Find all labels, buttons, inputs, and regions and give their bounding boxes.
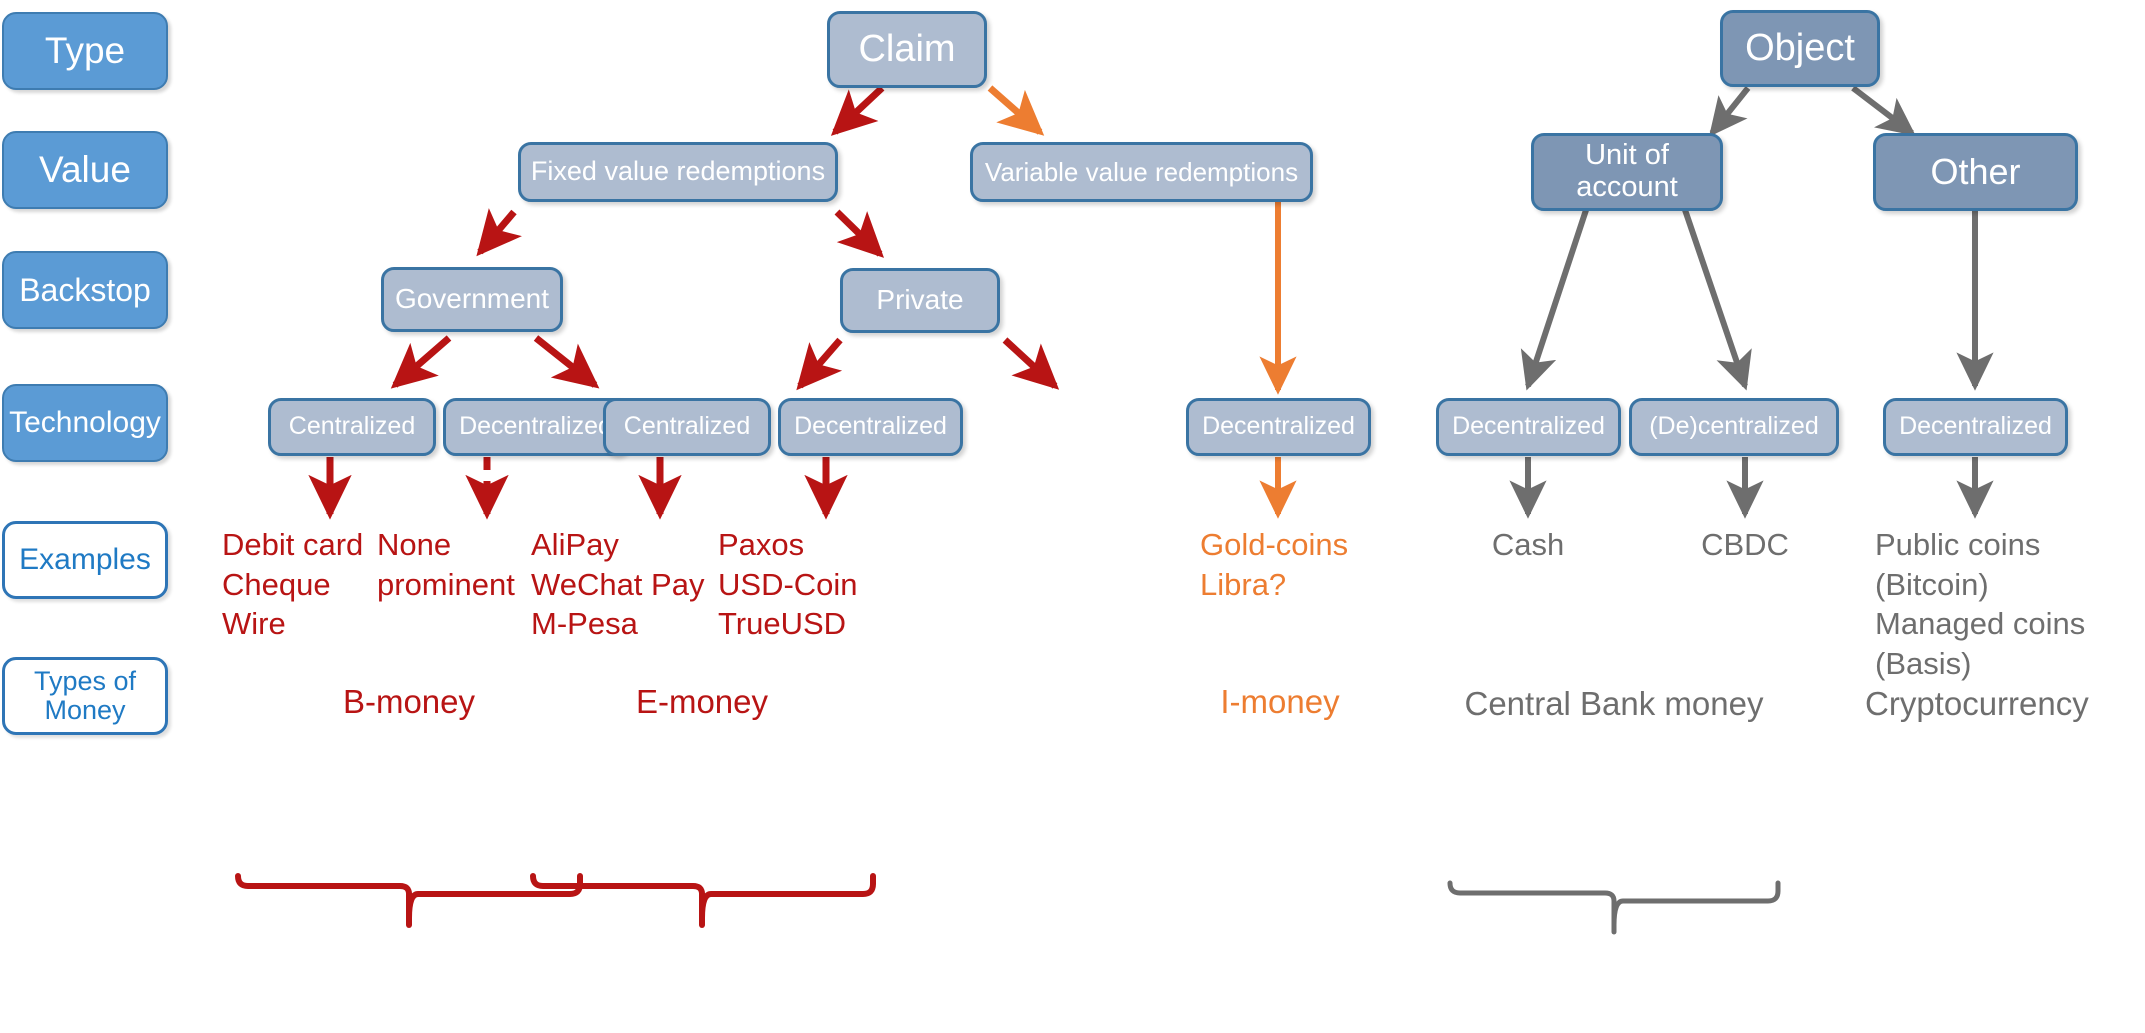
node-tech-uoa-decentralized2[interactable]: (De)centralized bbox=[1629, 398, 1839, 456]
dimension-label-technology: Technology bbox=[2, 384, 168, 462]
money-type-i-money: I-money bbox=[1160, 682, 1400, 722]
money-type-e-money: E-money bbox=[582, 682, 822, 722]
edge-object-to-unit-of-account bbox=[1712, 88, 1748, 133]
money-tree-diagram: Type Value Backstop Technology Examples … bbox=[0, 0, 2145, 1033]
money-type-central-bank-money: Central Bank money bbox=[1444, 684, 1784, 724]
dimension-label-type: Type bbox=[2, 12, 168, 90]
node-tech-uoa-decentralized[interactable]: Decentralized bbox=[1436, 398, 1621, 456]
edge-uoa-to-decentralized2 bbox=[1683, 204, 1745, 386]
examples-other-decentralized: Public coins (Bitcoin) Managed coins (Ba… bbox=[1875, 525, 2130, 684]
edge-government-to-centralized bbox=[395, 338, 449, 385]
node-object[interactable]: Object bbox=[1720, 10, 1880, 87]
edge-uoa-to-decentralized bbox=[1528, 204, 1588, 386]
examples-priv-centralized: AliPay WeChat Pay M-Pesa bbox=[531, 525, 746, 644]
brace-b-money bbox=[238, 876, 580, 918]
node-tech-priv-centralized[interactable]: Centralized bbox=[603, 398, 771, 456]
node-tech-gov-decentralized[interactable]: Decentralized bbox=[443, 398, 628, 456]
edge-claim-to-variable bbox=[990, 88, 1040, 132]
node-tech-gov-centralized[interactable]: Centralized bbox=[268, 398, 436, 456]
node-government[interactable]: Government bbox=[381, 267, 563, 332]
edge-fixed-to-private bbox=[837, 212, 880, 254]
edge-private-to-decentralized bbox=[1005, 340, 1055, 386]
dimension-label-types-of-money: Types of Money bbox=[2, 657, 168, 735]
dimension-label-backstop: Backstop bbox=[2, 251, 168, 329]
node-unit-of-account[interactable]: Unit of account bbox=[1531, 133, 1723, 211]
examples-priv-decentralized: Paxos USD-Coin TrueUSD bbox=[718, 525, 928, 644]
node-tech-priv-decentralized[interactable]: Decentralized bbox=[778, 398, 963, 456]
node-variable-value-redemptions[interactable]: Variable value redemptions bbox=[970, 142, 1313, 202]
brace-e-money bbox=[533, 876, 873, 918]
edge-private-to-centralized bbox=[800, 340, 840, 386]
edge-fixed-to-government bbox=[480, 212, 514, 252]
edge-government-to-decentralized bbox=[536, 338, 595, 385]
examples-variable-decentralized: Gold-coins Libra? bbox=[1200, 525, 1415, 604]
money-type-b-money: B-money bbox=[289, 682, 529, 722]
dimension-label-value: Value bbox=[2, 131, 168, 209]
edge-claim-to-fixed bbox=[835, 88, 882, 132]
node-other[interactable]: Other bbox=[1873, 133, 2078, 211]
examples-uoa-decentralized2: CBDC bbox=[1655, 525, 1835, 565]
node-claim[interactable]: Claim bbox=[827, 11, 987, 88]
edge-object-to-other bbox=[1853, 88, 1912, 133]
dimension-label-examples: Examples bbox=[2, 521, 168, 599]
node-tech-other-decentralized[interactable]: Decentralized bbox=[1883, 398, 2068, 456]
node-private[interactable]: Private bbox=[840, 268, 1000, 333]
brace-central-bank-money bbox=[1450, 883, 1778, 925]
examples-uoa-decentralized: Cash bbox=[1438, 525, 1618, 565]
node-fixed-value-redemptions[interactable]: Fixed value redemptions bbox=[518, 142, 838, 202]
money-type-cryptocurrency: Cryptocurrency bbox=[1865, 684, 2135, 724]
node-tech-variable-decentralized[interactable]: Decentralized bbox=[1186, 398, 1371, 456]
